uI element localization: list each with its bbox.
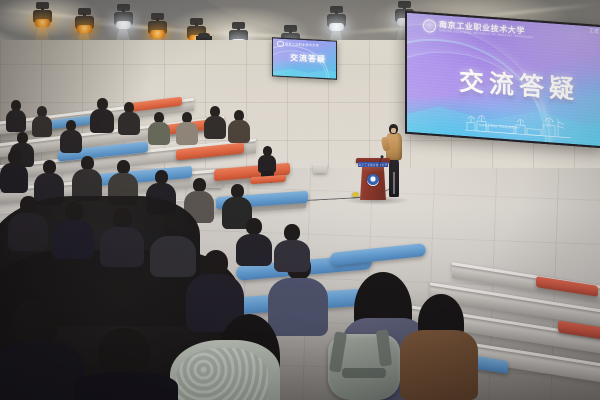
seated-attendee xyxy=(52,202,94,260)
seated-attendee xyxy=(236,218,272,264)
seated-attendee xyxy=(228,110,250,144)
auxiliary-monitor[interactable]: 南京工业职业技术大学 交流答疑 xyxy=(272,37,337,79)
seated-attendee xyxy=(32,106,52,138)
seated-attendee xyxy=(90,98,114,134)
lecture-hall-photo: 南京工业职业技术大学 交流答疑 南京工业职业技术大学 NANJING VOCAT… xyxy=(0,0,600,400)
seated-attendee xyxy=(118,102,140,136)
seated-attendee xyxy=(274,224,310,270)
seated-attendee xyxy=(60,120,82,154)
seated-attendee xyxy=(100,208,144,268)
screen-corner-text: 工匠 xyxy=(589,27,600,35)
foreground-attendee-fur-hood xyxy=(170,314,300,400)
university-seal-icon xyxy=(423,19,436,33)
seated-attendee xyxy=(0,150,28,194)
seated-attendee xyxy=(6,100,26,134)
attendee-coat xyxy=(400,330,478,400)
foreground-attendee xyxy=(0,300,84,400)
seated-attendee xyxy=(148,112,170,146)
fur-texture xyxy=(176,348,268,400)
foreground-attendee xyxy=(400,294,478,400)
monitor-glare xyxy=(273,38,336,78)
seated-attendee xyxy=(8,196,48,252)
seated-attendee xyxy=(204,106,226,140)
seated-attendee xyxy=(176,112,198,146)
backpack-pocket xyxy=(342,368,386,378)
foreground-attendee xyxy=(74,328,178,400)
seat-cushion-blue xyxy=(330,243,427,266)
